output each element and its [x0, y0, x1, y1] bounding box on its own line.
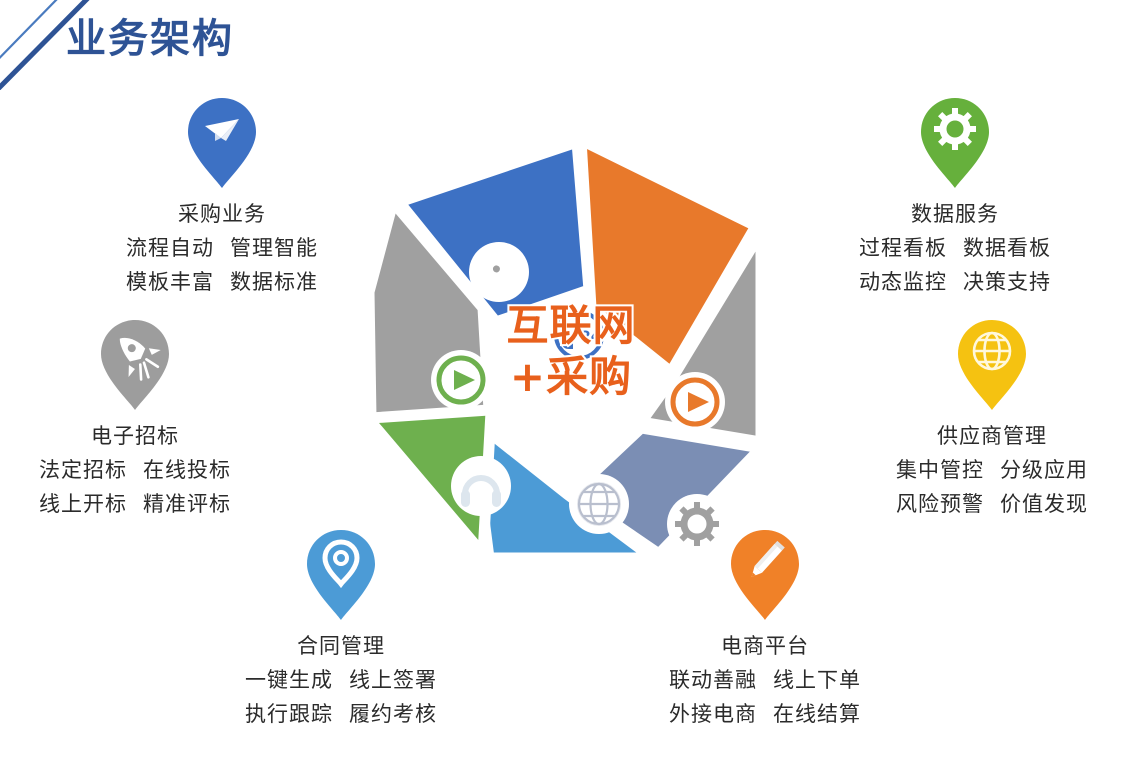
feature-supplier-management[interactable]: 供应商管理 集中管控分级应用 风险预警价值发现 — [862, 318, 1122, 518]
pin-wrap — [620, 528, 910, 622]
map-pin — [186, 96, 258, 190]
feature-purchasing-business[interactable]: 采购业务 流程自动管理智能 模板丰富数据标准 — [72, 96, 372, 296]
feature-row: 过程看板数据看板 — [810, 232, 1100, 262]
feature-cell-left: 执行跟踪 — [245, 702, 333, 726]
feature-cell-right: 精准评标 — [143, 492, 231, 516]
feature-row: 集中管控分级应用 — [862, 454, 1122, 484]
map-pin — [919, 96, 991, 190]
feature-cell-left: 集中管控 — [896, 458, 984, 482]
pin-wrap — [196, 528, 486, 622]
pin-wrap — [72, 96, 372, 190]
feature-data-service[interactable]: 数据服务 过程看板数据看板 动态监控决策支持 — [810, 96, 1100, 296]
feature-cell-right: 在线结算 — [773, 702, 861, 726]
pin-wrap — [0, 318, 270, 412]
feature-cell-right: 管理智能 — [230, 236, 318, 260]
feature-cell-right: 线上下单 — [773, 668, 861, 692]
svg-text:24: 24 — [581, 329, 601, 345]
feature-row: 法定招标在线投标 — [0, 454, 270, 484]
page-title: 业务架构 — [66, 6, 234, 64]
pin-wrap — [862, 318, 1122, 412]
headphones-icon — [451, 456, 511, 516]
feature-cell-left: 法定招标 — [39, 458, 127, 482]
feature-row: 动态监控决策支持 — [810, 266, 1100, 296]
feature-cell-left: 模板丰富 — [126, 270, 214, 294]
feature-cell-left: 流程自动 — [126, 236, 214, 260]
feature-cell-right: 数据看板 — [963, 236, 1051, 260]
feature-cell-right: 分级应用 — [1000, 458, 1088, 482]
map-pin — [305, 528, 377, 622]
feature-row: 风险预警价值发现 — [862, 488, 1122, 518]
pin-wrap — [810, 96, 1100, 190]
gear-icon — [934, 108, 976, 150]
play-icon-orange — [665, 372, 725, 432]
map-pin — [956, 318, 1028, 412]
feature-cell-left: 线上开标 — [39, 492, 127, 516]
feature-cell-left: 过程看板 — [859, 236, 947, 260]
feature-contract-management[interactable]: 合同管理 一键生成线上签署 执行跟踪履约考核 — [196, 528, 486, 728]
globe-icon-wheel — [569, 474, 629, 534]
feature-row: 模板丰富数据标准 — [72, 266, 372, 296]
feature-cell-left: 外接电商 — [669, 702, 757, 726]
feature-cell-left: 风险预警 — [896, 492, 984, 516]
feature-row: 流程自动管理智能 — [72, 232, 372, 262]
feature-title: 电子招标 — [0, 420, 270, 450]
feature-title: 采购业务 — [72, 198, 372, 228]
feature-row: 执行跟踪履约考核 — [196, 698, 486, 728]
feature-cell-right: 在线投标 — [143, 458, 231, 482]
feature-row: 一键生成线上签署 — [196, 664, 486, 694]
map-pin — [729, 528, 801, 622]
feature-cell-right: 线上签署 — [349, 668, 437, 692]
support-24h-icon: 24 — [549, 305, 609, 365]
page-header: 业务架构 — [0, 0, 1122, 90]
feature-title: 供应商管理 — [862, 420, 1122, 450]
feature-title: 数据服务 — [810, 198, 1100, 228]
feature-ecommerce-platform[interactable]: 电商平台 联动善融线上下单 外接电商在线结算 — [620, 528, 910, 728]
feature-title: 合同管理 — [196, 630, 486, 660]
feature-row: 外接电商在线结算 — [620, 698, 910, 728]
feature-cell-left: 联动善融 — [669, 668, 757, 692]
business-architecture-wheel: .blade { stroke:#ffffff; stroke-width:11… — [341, 122, 801, 582]
map-pin — [99, 318, 171, 412]
feature-title: 电商平台 — [620, 630, 910, 660]
feature-cell-right: 履约考核 — [349, 702, 437, 726]
feature-row: 线上开标精准评标 — [0, 488, 270, 518]
feature-cell-right: 价值发现 — [1000, 492, 1088, 516]
feature-cell-left: 动态监控 — [859, 270, 947, 294]
feature-cell-right: 决策支持 — [963, 270, 1051, 294]
play-icon-green — [431, 350, 491, 410]
feature-row: 联动善融线上下单 — [620, 664, 910, 694]
feature-electronic-bidding[interactable]: 电子招标 法定招标在线投标 线上开标精准评标 — [0, 318, 270, 518]
feature-cell-left: 一键生成 — [245, 668, 333, 692]
feature-cell-right: 数据标准 — [230, 270, 318, 294]
